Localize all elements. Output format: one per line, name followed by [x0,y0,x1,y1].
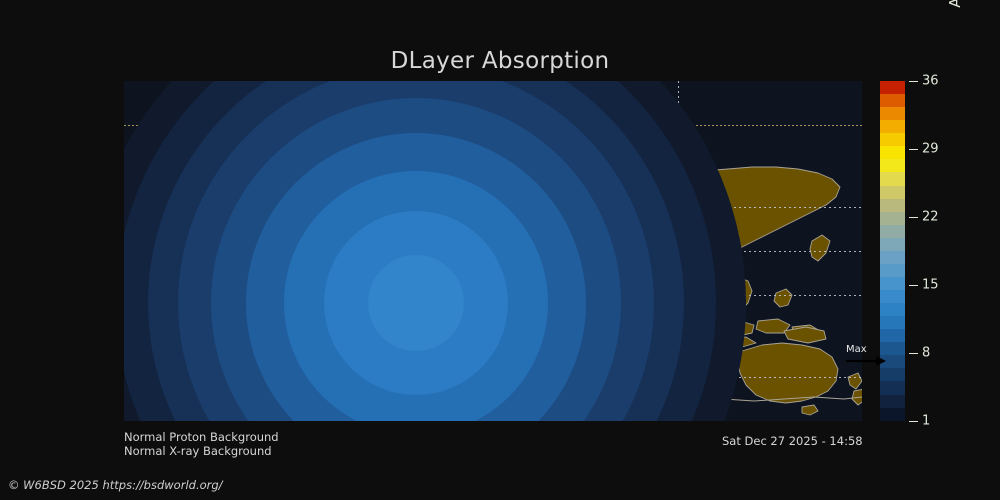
colorbar-tick-22 [909,217,918,218]
landmasses [124,97,862,421]
colorbar-segment [880,172,905,185]
timestamp: Sat Dec 27 2025 - 14:58 [722,434,863,448]
copyright-notice: © W6BSD 2025 https://bsdworld.org/ [8,478,223,492]
colorbar-tick-29 [909,149,918,150]
page-title: DLayer Absorption [0,48,1000,74]
colorbar-segment [880,329,905,342]
colorbar-segment [880,107,905,120]
colorbar-segment [880,264,905,277]
colorbar-segment [880,408,905,421]
world-map-panel[interactable] [124,81,862,421]
colorbar-segment [880,316,905,329]
colorbar-tick-label-36: 36 [922,74,939,89]
colorbar-segment [880,277,905,290]
max-marker-label: Max [846,345,867,355]
colorbar-tick-1 [909,421,918,422]
colorbar-gradient [880,81,905,421]
arrow-right-icon [846,355,886,367]
colorbar-tick-label-8: 8 [922,346,930,361]
colorbar-segment [880,81,905,94]
colorbar-tick-36 [909,81,918,82]
colorbar-axis-label: Affected Frequency (MHz) [942,0,968,81]
colorbar-segment [880,381,905,394]
colorbar-segment [880,94,905,107]
colorbar-segment [880,238,905,251]
xray-status: Normal X-ray Background [124,444,272,458]
world-map-svg [124,81,862,421]
dlayer-absorption-app: DLayer Absorption [0,0,1000,500]
colorbar-tick-15 [909,285,918,286]
colorbar-segment [880,303,905,316]
proton-status: Normal Proton Background [124,430,279,444]
colorbar-segment [880,199,905,212]
colorbar-segment [880,146,905,159]
colorbar-segment [880,133,905,146]
colorbar-segment [880,290,905,303]
colorbar-tick-label-15: 15 [922,278,939,293]
colorbar-tick-label-22: 22 [922,210,939,225]
colorbar-segment [880,395,905,408]
colorbar-tick-8 [909,353,918,354]
colorbar-segment [880,251,905,264]
colorbar[interactable]: 3629221581 Max Affected Frequency (MHz) [880,81,1000,422]
colorbar-segment [880,120,905,133]
colorbar-segment [880,225,905,238]
colorbar-segment [880,368,905,381]
max-marker: Max [846,347,886,367]
antarctica-coastline [124,395,862,415]
colorbar-segment [880,212,905,225]
colorbar-tick-label-29: 29 [922,142,939,157]
colorbar-segment [880,186,905,199]
colorbar-tick-label-1: 1 [922,414,930,429]
colorbar-segment [880,159,905,172]
